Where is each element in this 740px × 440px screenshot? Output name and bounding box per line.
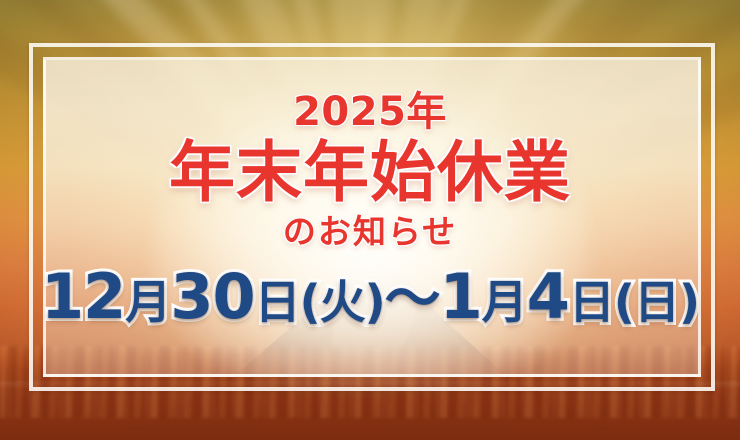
date-range: 12月30日(火)〜1月4日(日) <box>41 266 699 328</box>
range-separator: 〜 <box>385 267 440 332</box>
start-day: 30 <box>170 260 254 333</box>
start-month-unit: 月 <box>125 275 170 329</box>
start-day-unit: 日 <box>255 275 300 329</box>
notice-banner: 2025年 年末年始休業 のお知らせ 12月30日(火)〜1月4日(日) <box>0 0 740 440</box>
end-month: 1 <box>440 260 482 333</box>
notice-subtitle: のお知らせ <box>283 215 457 248</box>
notice-title: 年末年始休業 <box>169 138 571 207</box>
end-month-unit: 月 <box>482 275 527 329</box>
end-day-unit: 日 <box>569 275 614 329</box>
end-weekday: (日) <box>614 275 699 329</box>
notice-content: 2025年 年末年始休業 のお知らせ 12月30日(火)〜1月4日(日) <box>0 0 740 440</box>
start-weekday: (火) <box>300 275 385 329</box>
year-label: 2025年 <box>293 92 447 132</box>
start-month: 12 <box>41 260 125 333</box>
end-day: 4 <box>527 260 569 333</box>
